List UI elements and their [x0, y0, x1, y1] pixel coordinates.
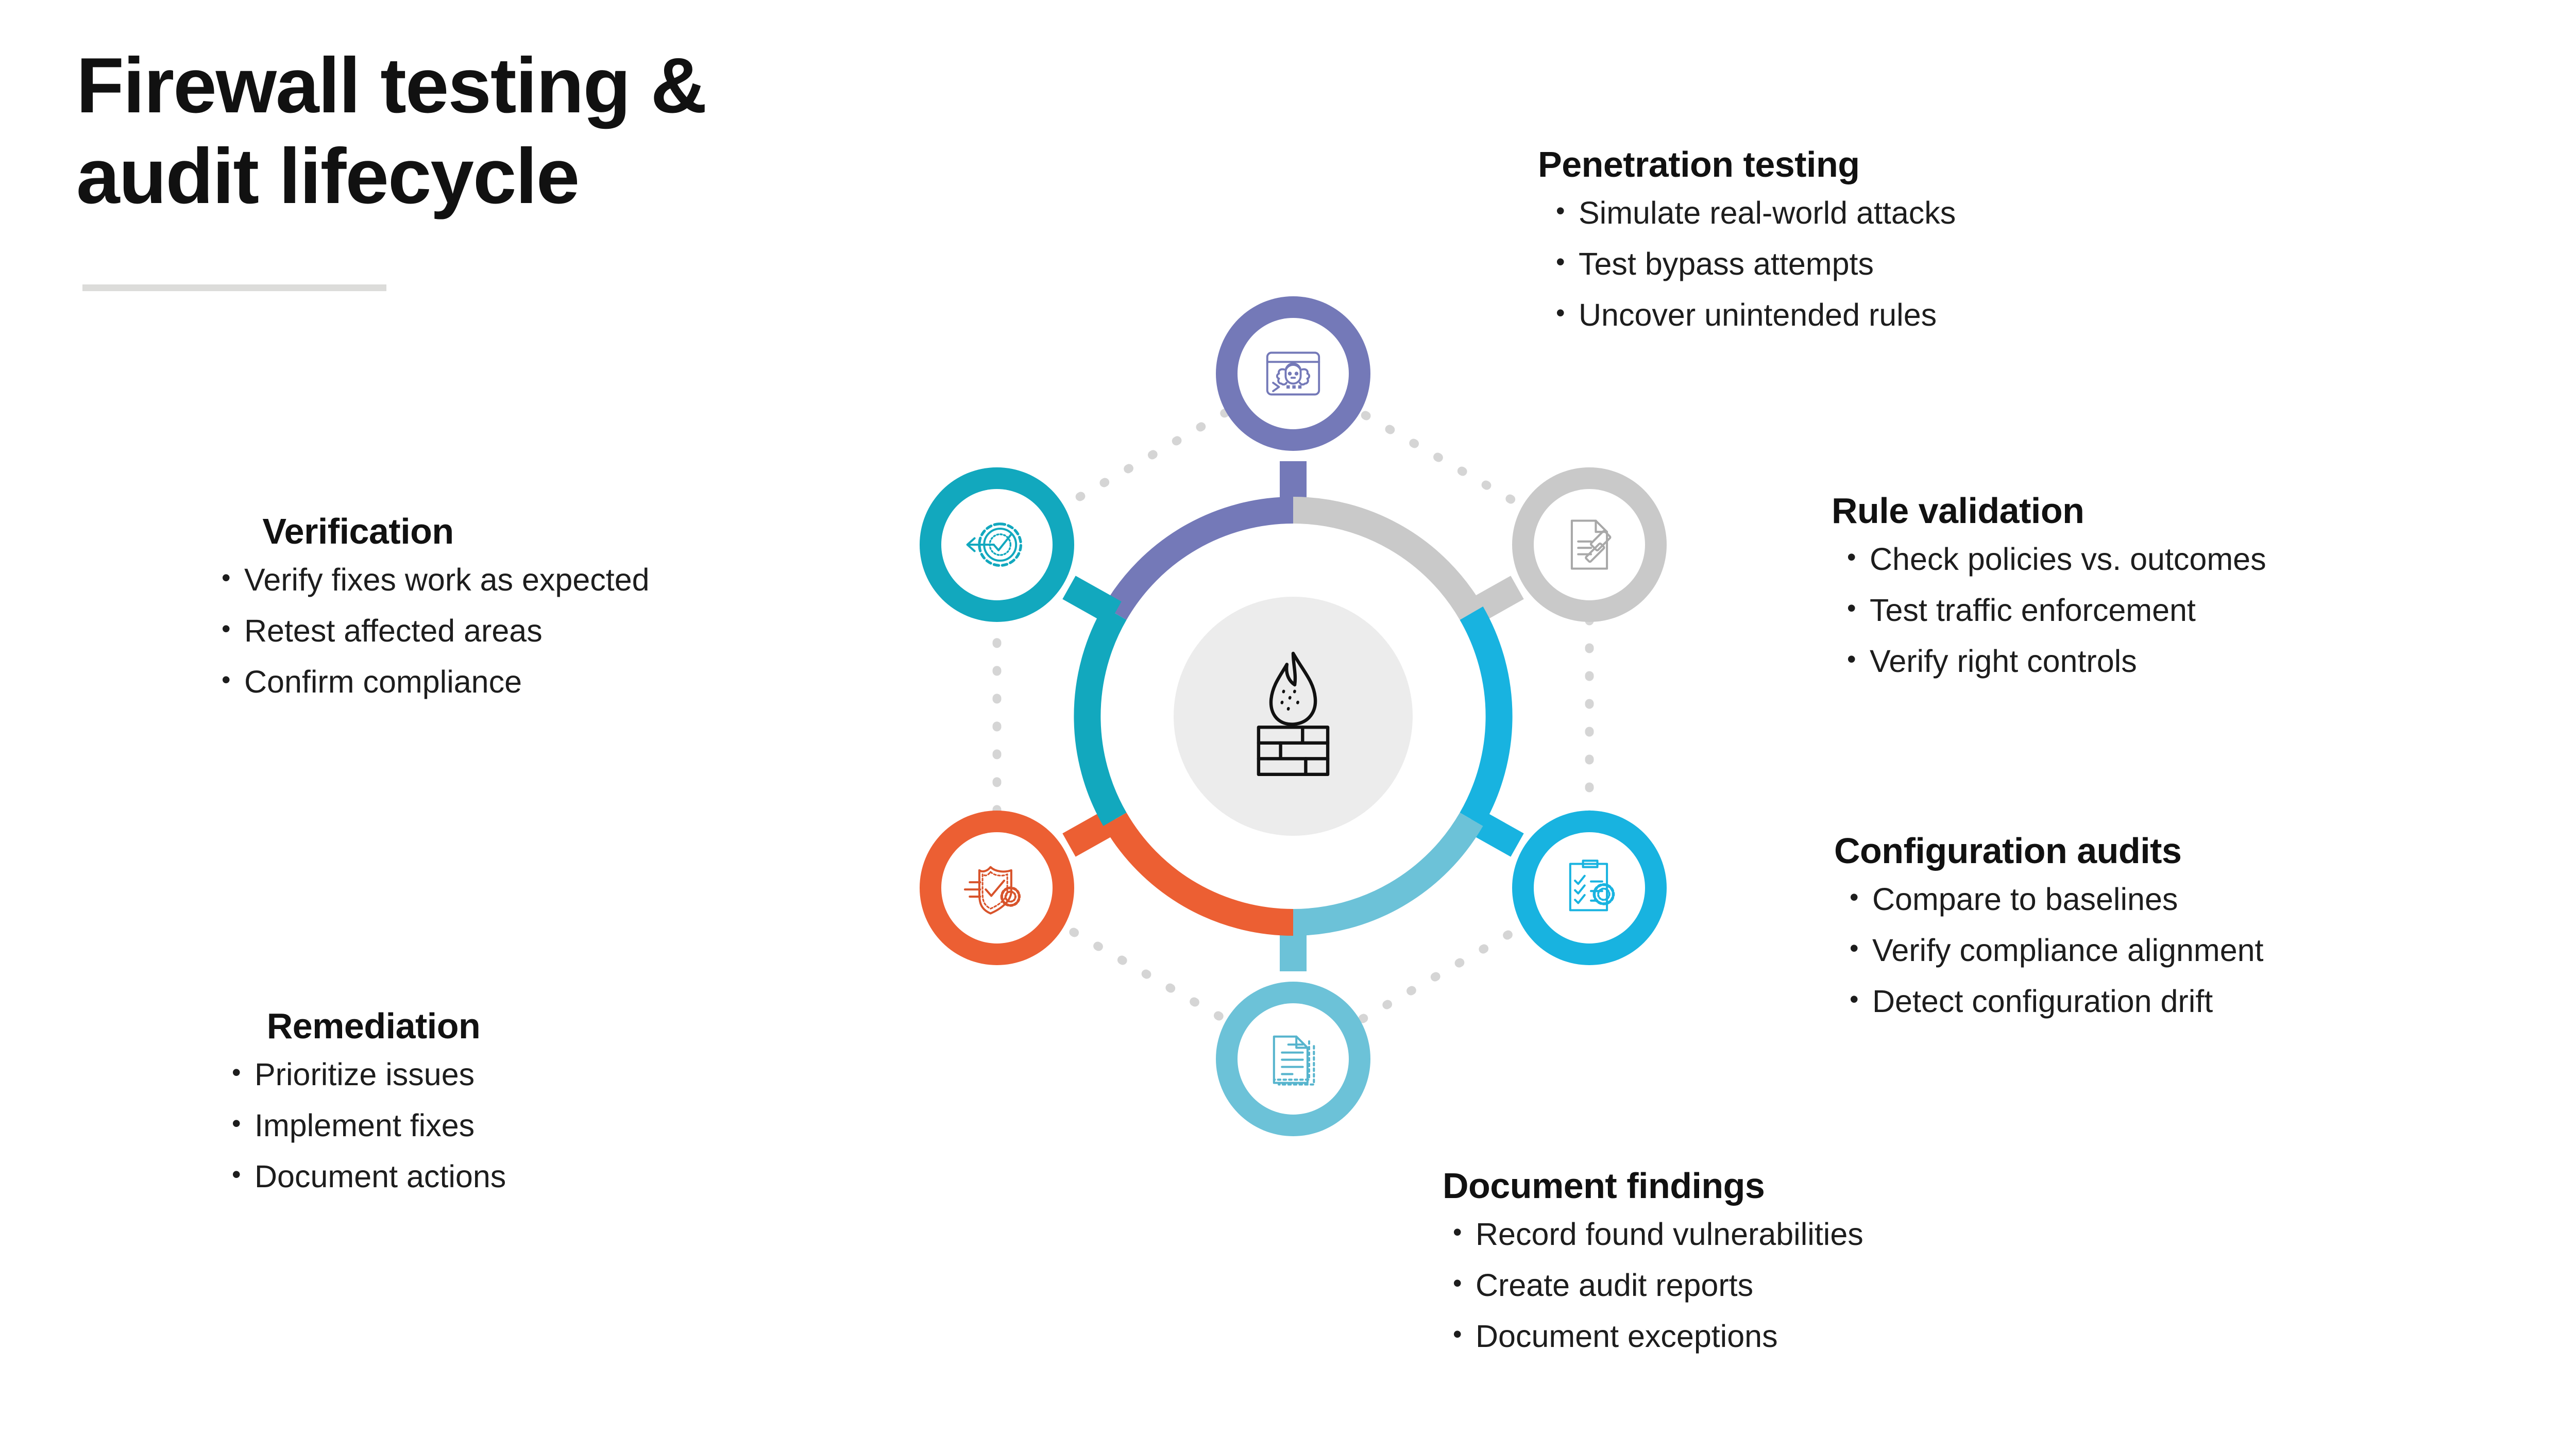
slide-canvas: Firewall testing & audit lifecycle [0, 0, 2576, 1449]
list-item: •Retest affected areas [222, 615, 917, 647]
bullet-glyph: • [1556, 299, 1579, 327]
bullet-text: Test bypass attempts [1579, 248, 1874, 280]
bullet-text: Retest affected areas [244, 615, 543, 647]
bullet-glyph: • [1453, 1219, 1476, 1246]
bullet-glyph: • [1556, 197, 1579, 225]
bullet-text: Uncover unintended rules [1579, 299, 1937, 331]
node-remediation[interactable] [920, 811, 1074, 965]
node-rule-validation[interactable] [1512, 467, 1667, 622]
bullet-glyph: • [1850, 884, 1872, 911]
bullet-glyph: • [1453, 1270, 1476, 1297]
list-item: •Create audit reports [1453, 1270, 2112, 1301]
list-item: •Record found vulnerabilities [1453, 1219, 2112, 1250]
heading-configuration-audits: Configuration audits [1834, 832, 2530, 870]
bullet-text: Check policies vs. outcomes [1870, 544, 2266, 575]
bullet-text: Document exceptions [1476, 1321, 1778, 1352]
bullet-glyph: • [1850, 986, 1872, 1013]
section-remediation: Remediation •Prioritize issues •Implemen… [232, 1007, 876, 1212]
bullet-glyph: • [232, 1059, 255, 1086]
bullet-glyph: • [1847, 646, 1870, 673]
bullet-glyph: • [1847, 544, 1870, 571]
bullet-list-verification: •Verify fixes work as expected •Retest a… [222, 564, 917, 698]
bullet-text: Verify fixes work as expected [244, 564, 650, 596]
arc-rule-validation [1293, 510, 1517, 613]
bullet-text: Record found vulnerabilities [1476, 1219, 1863, 1250]
arc-verification [1069, 587, 1115, 819]
list-item: •Verify compliance alignment [1850, 935, 2530, 966]
bullet-list-document-findings: •Record found vulnerabilities •Create au… [1453, 1219, 2112, 1352]
heading-rule-validation: Rule validation [1832, 492, 2501, 530]
lifecycle-hub-diagram [804, 227, 1783, 1206]
list-item: •Test traffic enforcement [1847, 595, 2501, 626]
node-document-findings[interactable] [1216, 982, 1370, 1136]
heading-penetration-testing: Penetration testing [1538, 146, 2208, 184]
list-item: •Check policies vs. outcomes [1847, 544, 2501, 575]
bullet-list-remediation: •Prioritize issues •Implement fixes •Doc… [232, 1059, 876, 1192]
section-configuration-audits: Configuration audits •Compare to baselin… [1834, 832, 2530, 1037]
section-penetration-testing: Penetration testing •Simulate real-world… [1538, 146, 2208, 350]
bullet-text: Create audit reports [1476, 1270, 1753, 1301]
arc-penetration [1115, 461, 1293, 613]
bullet-glyph: • [232, 1110, 255, 1137]
bullet-text: Verify right controls [1870, 646, 2137, 677]
arc-remediation [1069, 819, 1293, 922]
bullet-text: Detect configuration drift [1872, 986, 2213, 1017]
list-item: •Test bypass attempts [1556, 248, 2208, 280]
list-item: •Uncover unintended rules [1556, 299, 2208, 331]
bullet-text: Test traffic enforcement [1870, 595, 2196, 626]
bullet-text: Prioritize issues [255, 1059, 474, 1090]
bullet-text: Verify compliance alignment [1872, 935, 2264, 966]
section-verification: Verification •Verify fixes work as expec… [222, 513, 917, 717]
section-document-findings: Document findings •Record found vulnerab… [1443, 1167, 2112, 1372]
list-item: •Document actions [232, 1161, 876, 1192]
bullet-glyph: • [1453, 1321, 1476, 1348]
bullet-list-rule-validation: •Check policies vs. outcomes •Test traff… [1847, 544, 2501, 677]
list-item: •Implement fixes [232, 1110, 876, 1141]
bullet-list-configuration-audits: •Compare to baselines •Verify compliance… [1850, 884, 2530, 1017]
bullet-text: Compare to baselines [1872, 884, 2178, 915]
bullet-glyph: • [1556, 248, 1579, 276]
node-verification[interactable] [920, 467, 1074, 622]
heading-verification: Verification [214, 513, 502, 551]
title-underline-rule [82, 284, 386, 291]
list-item: •Verify fixes work as expected [222, 564, 917, 596]
bullet-glyph: • [222, 615, 244, 643]
bullet-glyph: • [232, 1161, 255, 1188]
list-item: •Compare to baselines [1850, 884, 2530, 915]
page-title: Firewall testing & audit lifecycle [76, 40, 849, 222]
bullet-glyph: • [222, 564, 244, 592]
bullet-list-penetration-testing: •Simulate real-world attacks •Test bypas… [1556, 197, 2208, 331]
hub-circle [1174, 597, 1413, 836]
bullet-glyph: • [222, 666, 244, 694]
heading-remediation: Remediation [224, 1007, 523, 1046]
arc-configuration-audits [1471, 613, 1517, 845]
node-penetration-testing[interactable] [1216, 296, 1370, 451]
bullet-text: Implement fixes [255, 1110, 474, 1141]
list-item: •Simulate real-world attacks [1556, 197, 2208, 229]
list-item: •Verify right controls [1847, 646, 2501, 677]
list-item: •Document exceptions [1453, 1321, 2112, 1352]
bullet-glyph: • [1847, 595, 1870, 622]
list-item: •Confirm compliance [222, 666, 917, 698]
arc-document-findings [1293, 819, 1471, 971]
bullet-glyph: • [1850, 935, 1872, 962]
list-item: •Detect configuration drift [1850, 986, 2530, 1017]
node-configuration-audits[interactable] [1512, 811, 1667, 965]
bullet-text: Confirm compliance [244, 666, 522, 698]
list-item: •Prioritize issues [232, 1059, 876, 1090]
bullet-text: Document actions [255, 1161, 506, 1192]
section-rule-validation: Rule validation •Check policies vs. outc… [1832, 492, 2501, 697]
title-line-2: audit lifecycle [76, 131, 849, 222]
title-line-1: Firewall testing & [76, 40, 849, 131]
bullet-text: Simulate real-world attacks [1579, 197, 1956, 229]
heading-document-findings: Document findings [1443, 1167, 2112, 1205]
